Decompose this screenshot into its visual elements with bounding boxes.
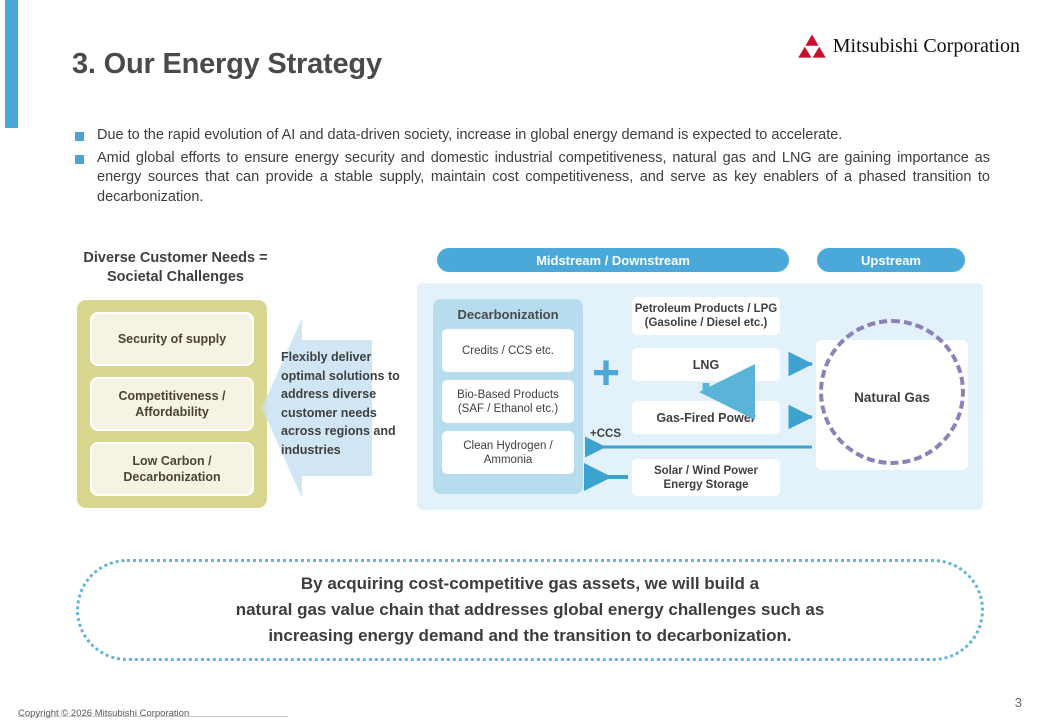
mitsubishi-three-diamond-icon xyxy=(798,34,826,58)
footer-copyright: Copyright © 2026 Mitsubishi Corporation xyxy=(18,708,189,719)
decarb-card-credits-ccs: Credits / CCS etc. xyxy=(442,329,574,372)
need-card: Security of supply xyxy=(90,312,254,366)
bullet-text: Due to the rapid evolution of AI and dat… xyxy=(97,126,842,146)
bullet-text: Amid global efforts to ensure energy sec… xyxy=(97,149,990,208)
bullet-square-icon xyxy=(75,132,84,141)
chain-box-petroleum-products: Petroleum Products / LPG (Gasoline / Die… xyxy=(632,297,780,335)
decarbonization-panel: Decarbonization Credits / CCS etc. Bio-B… xyxy=(433,299,583,494)
bullet-item: Due to the rapid evolution of AI and dat… xyxy=(75,126,990,146)
decarb-card-bio-based-products: Bio-Based Products (SAF / Ethanol etc.) xyxy=(442,380,574,423)
page-title: 3. Our Energy Strategy xyxy=(72,48,382,81)
need-card: Competitiveness / Affordability xyxy=(90,377,254,431)
chain-box-solar-wind-power: Solar / Wind Power Energy Storage xyxy=(632,459,780,496)
chain-box-gas-fired-power: Gas-Fired Power xyxy=(632,401,780,434)
decarbonization-title: Decarbonization xyxy=(442,307,574,322)
needs-heading: Diverse Customer Needs = Societal Challe… xyxy=(73,249,278,287)
chain-box-lng: LNG xyxy=(632,348,780,381)
plus-symbol-icon: + xyxy=(592,358,626,392)
bullet-list: Due to the rapid evolution of AI and dat… xyxy=(75,126,990,210)
decarb-card-clean-hydrogen-ammonia: Clean Hydrogen / Ammonia xyxy=(442,431,574,474)
customer-needs-box: Security of supply Competitiveness / Aff… xyxy=(77,300,267,508)
conclusion-callout: By acquiring cost-competitive gas assets… xyxy=(76,559,984,661)
footer-page-number: 3 xyxy=(1015,695,1022,710)
pill-midstream-downstream: Midstream / Downstream xyxy=(437,248,789,272)
left-accent-bar xyxy=(5,0,18,128)
flexibility-arrow-text: Flexibly deliver optimal solutions to ad… xyxy=(281,348,416,459)
bullet-square-icon xyxy=(75,155,84,164)
need-card: Low Carbon / Decarbonization xyxy=(90,442,254,496)
pill-upstream: Upstream xyxy=(817,248,965,272)
brand-logo: Mitsubishi Corporation xyxy=(798,34,1020,58)
brand-logo-text: Mitsubishi Corporation xyxy=(833,35,1020,58)
bullet-item: Amid global efforts to ensure energy sec… xyxy=(75,149,990,208)
conclusion-text: By acquiring cost-competitive gas assets… xyxy=(236,571,825,649)
ccs-label: +CCS xyxy=(590,428,621,440)
natural-gas-label: Natural Gas xyxy=(816,390,968,405)
chain-box-natural-gas: Natural Gas xyxy=(816,340,968,470)
